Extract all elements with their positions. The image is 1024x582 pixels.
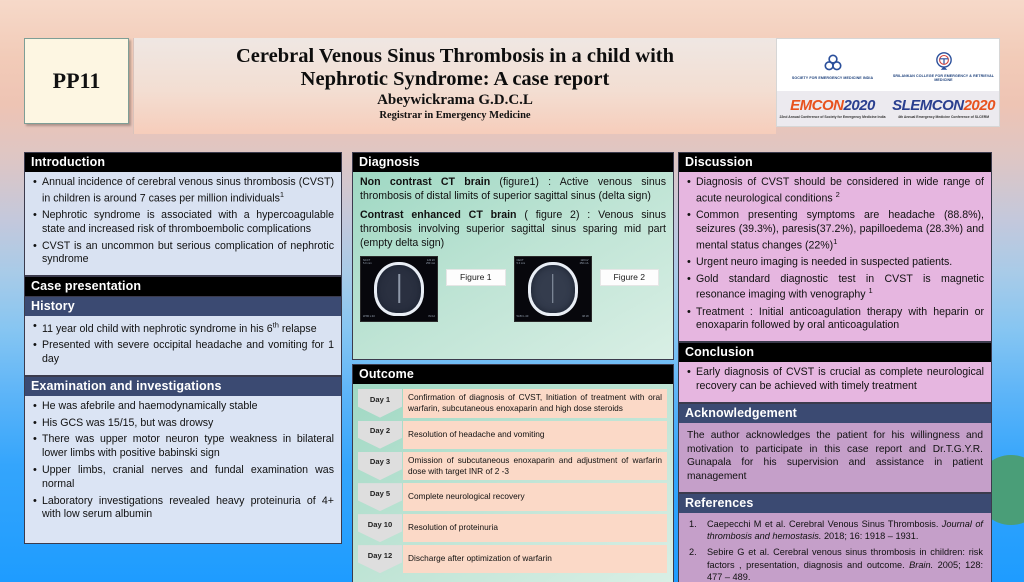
slemcon-year: 2020 bbox=[964, 97, 995, 114]
ct1-meta-tr: 120 kV250 mA bbox=[426, 259, 435, 266]
history-header-wrap: History bbox=[24, 296, 342, 316]
reference-2-journal: Brain. bbox=[909, 560, 933, 570]
references-heading: References bbox=[679, 494, 991, 513]
figure-1-label: Figure 1 bbox=[446, 269, 506, 286]
diagnosis-heading: Diagnosis bbox=[353, 153, 673, 172]
poster-header: PP11 Cerebral Venous Sinus Thrombosis in… bbox=[24, 38, 1000, 138]
title-band: Cerebral Venous Sinus Thrombosis in a ch… bbox=[133, 38, 776, 134]
list-item: Presented with severe occipital headache… bbox=[32, 339, 334, 367]
examination-bullet-list: He was afebrile and haemodynamically sta… bbox=[32, 400, 334, 522]
timeline-row: Day 10 Resolution of proteinuria bbox=[358, 514, 667, 542]
diagnosis-paragraph-2: Contrast enhanced CT brain ( figure 2) :… bbox=[360, 209, 666, 251]
outcome-header-wrap: Outcome bbox=[352, 364, 674, 384]
emcon-subtitle: 22nd Annual Conference of Society for Em… bbox=[777, 116, 888, 119]
poster-id-text: PP11 bbox=[53, 68, 101, 94]
right-column: Discussion Diagnosis of CVST should be c… bbox=[678, 152, 992, 582]
history-panel: 11 year old child with nephrotic syndrom… bbox=[24, 316, 342, 376]
ct1-midline bbox=[398, 274, 400, 303]
poster-id-badge: PP11 bbox=[24, 38, 129, 124]
left-column: Introduction Annual incidence of cerebra… bbox=[24, 152, 342, 544]
ct-scan-figure-2: CECT5.0 mm 120 kV250 mA W:80 L:40 IM 18 bbox=[514, 256, 592, 322]
slcerm-logo-cell: SRILANKAN COLLEGE FOR EMERGENCY & RETRIE… bbox=[888, 39, 999, 91]
title-line-2: Nephrotic Syndrome: A case report bbox=[301, 68, 610, 90]
list-item: Gold standard diagnostic test in CVST is… bbox=[686, 273, 984, 303]
ct1-meta-tl: NCCT5.0 mm bbox=[363, 259, 372, 266]
page-title: Cerebral Venous Sinus Thrombosis in a ch… bbox=[236, 45, 674, 91]
examination-heading: Examination and investigations bbox=[25, 377, 341, 396]
list-item: Urgent neuro imaging is needed in suspec… bbox=[686, 256, 984, 270]
list-item: Upper limbs, cranial nerves and fundal e… bbox=[32, 464, 334, 492]
timeline-row: Day 1 Confirmation of diagnosis of CVST,… bbox=[358, 389, 667, 418]
discussion-bullet-list: Diagnosis of CVST should be considered i… bbox=[686, 176, 984, 333]
ct1-meta-bl: W:80 L:40 bbox=[363, 315, 375, 319]
ct2-meta-tl: CECT5.0 mm bbox=[517, 259, 526, 266]
citation-superscript: 1 bbox=[280, 190, 284, 199]
discussion-heading: Discussion bbox=[679, 153, 991, 172]
ct2-midline bbox=[552, 274, 554, 303]
reference-list: Caepecchi M et al. Cerebral Venous Sinus… bbox=[679, 513, 991, 582]
citation-superscript: 2 bbox=[836, 190, 840, 199]
diagnosis-header-wrap: Diagnosis bbox=[352, 152, 674, 172]
timeline-event-text: Resolution of headache and vomiting bbox=[403, 421, 667, 449]
introduction-bullet-list: Annual incidence of cerebral venous sinu… bbox=[32, 176, 334, 267]
list-item: Nephrotic syndrome is associated with a … bbox=[32, 209, 334, 237]
timeline-event-text: Resolution of proteinuria bbox=[403, 514, 667, 542]
list-item: Annual incidence of cerebral venous sinu… bbox=[32, 176, 334, 206]
introduction-bullet-0: Annual incidence of cerebral venous sinu… bbox=[42, 176, 334, 204]
author-name: Abeywickrama G.D.C.L bbox=[377, 92, 533, 109]
timeline-event-text: Omission of subcutaneous enoxaparin and … bbox=[403, 452, 667, 481]
emcon-word: EMCON bbox=[790, 97, 843, 114]
semi-logo-caption: SOCIETY FOR EMERGENCY MEDICINE INDIA bbox=[792, 76, 873, 80]
list-item: Diagnosis of CVST should be considered i… bbox=[686, 176, 984, 206]
ct-scan-figure-1: NCCT5.0 mm 120 kV250 mA W:80 L:40 IM 12 bbox=[360, 256, 438, 322]
discussion-header-wrap: Discussion bbox=[678, 152, 992, 172]
history-bullet-list: 11 year old child with nephrotic syndrom… bbox=[32, 320, 334, 367]
timeline-event-text: Confirmation of diagnosis of CVST, Initi… bbox=[403, 389, 667, 418]
timeline-row: Day 3 Omission of subcutaneous enoxapari… bbox=[358, 452, 667, 481]
list-item: Treatment : Initial anticoagulation ther… bbox=[686, 306, 984, 334]
ct2-meta-bl: W:80 L:40 bbox=[517, 315, 529, 319]
author-role: Registrar in Emergency Medicine bbox=[379, 110, 530, 121]
outcome-panel: Day 1 Confirmation of diagnosis of CVST,… bbox=[352, 384, 674, 582]
discussion-bullet-1: Common presenting symptoms are headache … bbox=[696, 209, 984, 251]
list-item: Common presenting symptoms are headache … bbox=[686, 209, 984, 253]
list-item: He was afebrile and haemodynamically sta… bbox=[32, 400, 334, 414]
semi-logo-cell: SOCIETY FOR EMERGENCY MEDICINE INDIA bbox=[777, 39, 888, 91]
history-bullet-0-text: 11 year old child with nephrotic syndrom… bbox=[42, 323, 317, 335]
organisation-logos: SOCIETY FOR EMERGENCY MEDICINE INDIA SRI… bbox=[777, 39, 999, 91]
timeline-row: Day 2 Resolution of headache and vomitin… bbox=[358, 421, 667, 449]
case-presentation-header-wrap: Case presentation bbox=[24, 276, 342, 296]
slcerm-emblem-icon bbox=[933, 50, 955, 72]
diagnosis-paragraph-1: Non contrast CT brain (figure1) : Active… bbox=[360, 176, 666, 204]
timeline-row: Day 12 Discharge after optimization of w… bbox=[358, 545, 667, 573]
timeline-day-label: Day 3 bbox=[358, 452, 402, 481]
conclusion-heading: Conclusion bbox=[679, 343, 991, 362]
acknowledgement-header-wrap: Acknowledgement bbox=[678, 403, 992, 423]
timeline-day-label: Day 1 bbox=[358, 389, 402, 418]
figure-2-label: Figure 2 bbox=[600, 269, 660, 286]
reference-1-post: 2018; 16: 1918 – 1931. bbox=[821, 531, 918, 541]
timeline-day-label: Day 2 bbox=[358, 421, 402, 449]
discussion-bullet-3: Gold standard diagnostic test in CVST is… bbox=[696, 273, 984, 301]
timeline-day-label: Day 5 bbox=[358, 483, 402, 511]
conference-logo-band: SOCIETY FOR EMERGENCY MEDICINE INDIA SRI… bbox=[776, 38, 1000, 127]
slcerm-logo-caption: SRILANKAN COLLEGE FOR EMERGENCY & RETRIE… bbox=[889, 74, 998, 83]
discussion-panel: Diagnosis of CVST should be considered i… bbox=[678, 172, 992, 342]
acknowledgement-heading: Acknowledgement bbox=[679, 404, 991, 423]
introduction-panel: Annual incidence of cerebral venous sinu… bbox=[24, 172, 342, 276]
case-presentation-heading: Case presentation bbox=[25, 277, 341, 296]
references-header-wrap: References bbox=[678, 493, 992, 513]
list-item: There was upper motor neuron type weakne… bbox=[32, 433, 334, 461]
diagnosis-p2-label: Contrast enhanced CT brain bbox=[360, 209, 517, 221]
list-item: Sebire G et al. Cerebral venous sinus th… bbox=[683, 546, 983, 582]
discussion-bullet-0: Diagnosis of CVST should be considered i… bbox=[696, 176, 984, 204]
timeline-event-text: Complete neurological recovery bbox=[403, 483, 667, 511]
emcon-year: 2020 bbox=[843, 97, 874, 114]
conclusion-header-wrap: Conclusion bbox=[678, 342, 992, 362]
title-line-1: Cerebral Venous Sinus Thrombosis in a ch… bbox=[236, 45, 674, 67]
acknowledgement-panel: The author acknowledges the patient for … bbox=[678, 423, 992, 493]
history-bullet-0: 11 year old child with nephrotic syndrom… bbox=[42, 323, 317, 335]
conclusion-panel: Early diagnosis of CVST is crucial as co… bbox=[678, 362, 992, 403]
conference-wordmarks: EMCON2020 22nd Annual Conference of Soci… bbox=[777, 91, 999, 126]
outcome-heading: Outcome bbox=[353, 365, 673, 384]
reference-1-pre: Caepecchi M et al. Cerebral Venous Sinus… bbox=[707, 519, 942, 529]
timeline-row: Day 5 Complete neurological recovery bbox=[358, 483, 667, 511]
citation-superscript: 1 bbox=[869, 286, 873, 295]
slemcon-subtitle: 4th Annual Emergency Medicine Conference… bbox=[888, 116, 999, 119]
list-item: Laboratory investigations revealed heavy… bbox=[32, 495, 334, 523]
timeline-day-label: Day 12 bbox=[358, 545, 402, 573]
list-item: Caepecchi M et al. Cerebral Venous Sinus… bbox=[683, 518, 983, 542]
citation-superscript: 1 bbox=[833, 237, 837, 246]
introduction-header-wrap: Introduction bbox=[24, 152, 342, 172]
slemcon-word: SLEMCON bbox=[892, 97, 964, 114]
emcon-wordmark: EMCON2020 22nd Annual Conference of Soci… bbox=[777, 98, 888, 119]
introduction-heading: Introduction bbox=[25, 153, 341, 172]
timeline-event-text: Discharge after optimization of warfarin bbox=[403, 545, 667, 573]
references-panel: Caepecchi M et al. Cerebral Venous Sinus… bbox=[678, 513, 992, 582]
acknowledgement-text: The author acknowledges the patient for … bbox=[679, 423, 991, 492]
diagnosis-panel: Non contrast CT brain (figure1) : Active… bbox=[352, 172, 674, 360]
middle-column: Diagnosis Non contrast CT brain (figure1… bbox=[352, 152, 674, 582]
list-item: CVST is an uncommon but serious complica… bbox=[32, 240, 334, 268]
list-item: Early diagnosis of CVST is crucial as co… bbox=[686, 366, 984, 394]
ordinal-superscript: th bbox=[273, 320, 279, 329]
history-heading: History bbox=[25, 297, 341, 316]
list-item: 11 year old child with nephrotic syndrom… bbox=[32, 320, 334, 336]
examination-panel: He was afebrile and haemodynamically sta… bbox=[24, 396, 342, 544]
examination-header-wrap: Examination and investigations bbox=[24, 376, 342, 396]
timeline-day-label: Day 10 bbox=[358, 514, 402, 542]
diagnosis-p1-label: Non contrast CT brain bbox=[360, 176, 490, 188]
ct2-meta-tr: 120 kV250 mA bbox=[580, 259, 589, 266]
conclusion-bullet-list: Early diagnosis of CVST is crucial as co… bbox=[686, 366, 984, 394]
semi-trefoil-icon bbox=[822, 52, 844, 74]
slemcon-wordmark: SLEMCON2020 4th Annual Emergency Medicin… bbox=[888, 98, 999, 119]
list-item: His GCS was 15/15, but was drowsy bbox=[32, 417, 334, 431]
ct-scan-row: NCCT5.0 mm 120 kV250 mA W:80 L:40 IM 12 … bbox=[360, 256, 666, 322]
